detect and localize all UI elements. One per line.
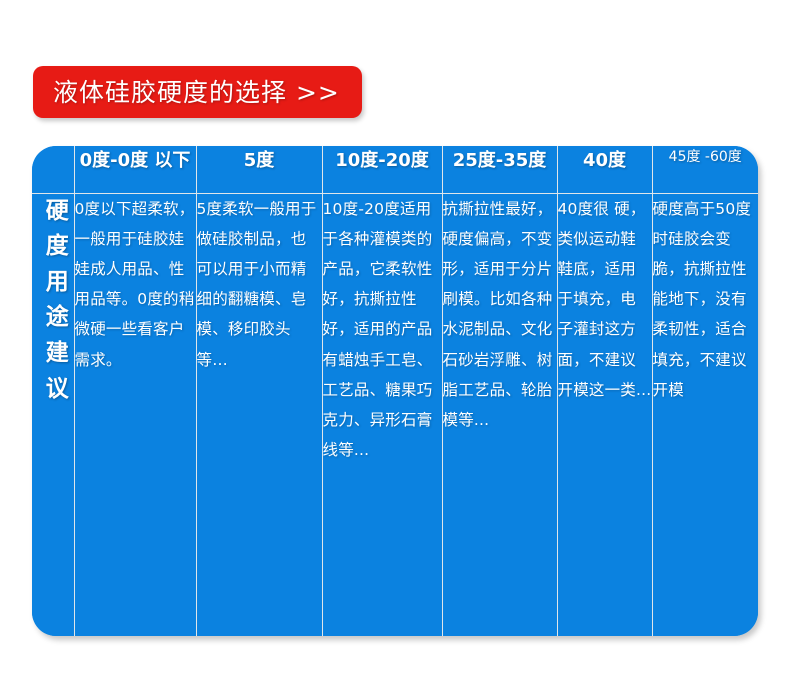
table-header-cell-1: 5度 [196, 146, 322, 193]
table-row: 硬度用途建议 0度以下超柔软，一般用于硅胶娃娃成人用品、性用品等。0度的稍微硬一… [32, 193, 758, 636]
table-corner-cell [32, 146, 74, 193]
table-header-cell-3: 25度-35度 [442, 146, 557, 193]
table-cell-0: 0度以下超柔软，一般用于硅胶娃娃成人用品、性用品等。0度的稍微硬一些看客户需求。 [74, 193, 196, 636]
table-cell-text-2: 10度-20度适用于各种灌模类的 产品，它柔软性好，抗撕拉性好，适用的产品有蜡烛… [323, 194, 442, 466]
table-cell-text-5: 硬度高于50度时硅胶会变脆，抗撕拉性能地下，没有柔韧性，适合填充，不建议开模 [653, 194, 759, 406]
table-cell-5: 硬度高于50度时硅胶会变脆，抗撕拉性能地下，没有柔韧性，适合填充，不建议开模 [652, 193, 758, 636]
table-cell-text-1: 5度柔软一般用于做硅胶制品，也可以用于小而精细的翻糖模、皂模、移印胶头等… [197, 194, 322, 375]
table-header-row: 0度-0度 以下 5度 10度-20度 25度-35度 40度 45度 -60度 [32, 146, 758, 193]
section-title-banner: 液体硅胶硬度的选择 >> [33, 66, 362, 118]
table-cell-1: 5度柔软一般用于做硅胶制品，也可以用于小而精细的翻糖模、皂模、移印胶头等… [196, 193, 322, 636]
table-cell-text-4: 40度很 硬，类似运动鞋鞋底，适用于填充，电子灌封这方面，不建议开模这一类... [558, 194, 652, 406]
section-title-text: 液体硅胶硬度的选择 >> [53, 80, 340, 105]
row-label-text: 硬度用途建议 [40, 194, 66, 408]
page-root: 液体硅胶硬度的选择 >> 0度-0度 以下 5度 10度-20度 25度-35度… [0, 0, 790, 700]
table-cell-text-0: 0度以下超柔软，一般用于硅胶娃娃成人用品、性用品等。0度的稍微硬一些看客户需求。 [75, 194, 196, 375]
table-cell-3: 抗撕拉性最好，硬度偏高，不变形，适用于分片刷模。比如各种水泥制品、文化石砂岩浮雕… [442, 193, 557, 636]
table-header-cell-4: 40度 [557, 146, 652, 193]
table-header-cell-0: 0度-0度 以下 [74, 146, 196, 193]
table-header-cell-2: 10度-20度 [322, 146, 442, 193]
table-cell-text-3: 抗撕拉性最好，硬度偏高，不变形，适用于分片刷模。比如各种水泥制品、文化石砂岩浮雕… [443, 194, 557, 436]
hardness-table-container: 0度-0度 以下 5度 10度-20度 25度-35度 40度 45度 -60度… [32, 146, 758, 636]
table-cell-4: 40度很 硬，类似运动鞋鞋底，适用于填充，电子灌封这方面，不建议开模这一类... [557, 193, 652, 636]
hardness-table: 0度-0度 以下 5度 10度-20度 25度-35度 40度 45度 -60度… [32, 146, 758, 636]
row-label-cell: 硬度用途建议 [32, 193, 74, 636]
table-header-cell-5: 45度 -60度 [652, 146, 758, 193]
table-cell-2: 10度-20度适用于各种灌模类的 产品，它柔软性好，抗撕拉性好，适用的产品有蜡烛… [322, 193, 442, 636]
